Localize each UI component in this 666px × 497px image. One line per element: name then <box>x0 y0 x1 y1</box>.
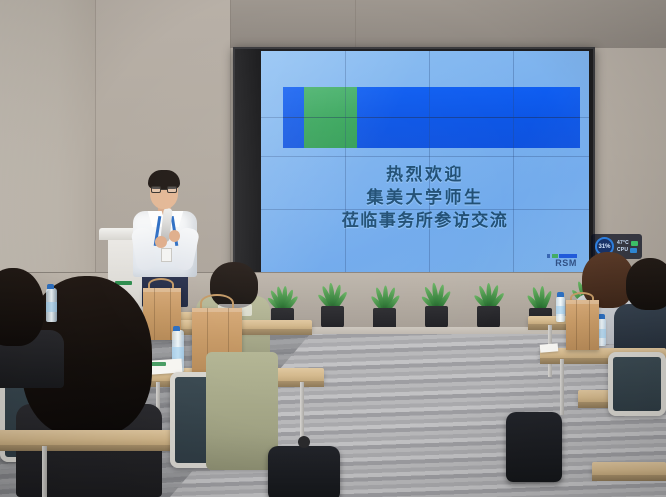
screen-panel-seam <box>513 51 514 274</box>
slide-line-2: 集美大学师生 <box>261 186 589 209</box>
potted-plant-icon <box>312 272 352 328</box>
slide-line-3: 莅临事务所参访交流 <box>261 209 589 232</box>
slide-line-1: 热烈欢迎 <box>261 163 589 186</box>
seminar-room-photo: 热烈欢迎 集美大学师生 莅临事务所参访交流 RSM 31% <box>0 0 666 497</box>
backpack-icon <box>268 446 340 497</box>
rsm-logo: RSM <box>547 254 577 268</box>
water-bottle-icon <box>556 296 565 322</box>
video-wall-bezel <box>235 49 261 276</box>
screen-panel-seam <box>345 51 346 274</box>
video-wall[interactable]: 热烈欢迎 集美大学师生 莅临事务所参访交流 RSM <box>233 47 595 278</box>
glasses-icon <box>151 186 177 193</box>
attendee-hair <box>0 268 44 346</box>
backpack-icon <box>506 412 562 482</box>
screen-panel-seam <box>429 51 430 274</box>
status-chip-icon <box>631 241 638 246</box>
gift-bag-icon <box>566 300 599 350</box>
water-bottle-icon <box>46 288 57 322</box>
presenter-id-badge <box>161 248 172 262</box>
chair-caster <box>298 436 310 448</box>
temperature-row: 47°C <box>617 240 638 246</box>
table-row <box>0 430 190 446</box>
presenter-hand <box>155 236 167 248</box>
table-leg <box>42 446 47 497</box>
screen-panel-seam <box>261 117 589 118</box>
table-leg <box>560 359 564 415</box>
attendee-far-left <box>0 268 52 388</box>
potted-plant-icon <box>468 272 508 328</box>
potted-plant-icon <box>364 274 404 330</box>
screen-panel-seam <box>261 156 589 157</box>
screen-panel-seam <box>261 209 589 210</box>
upper-wall-band <box>230 0 666 48</box>
handout-paper <box>540 343 559 353</box>
potted-plant-icon <box>416 272 456 328</box>
presenter-hand <box>169 230 180 242</box>
attendee-center-lower <box>206 352 278 470</box>
table-row <box>592 462 666 476</box>
temperature-value: 47°C <box>617 240 629 246</box>
presentation-screen[interactable]: 热烈欢迎 集美大学师生 莅临事务所参访交流 RSM <box>261 51 589 274</box>
attendee-hair <box>626 258 666 310</box>
chair <box>608 352 666 416</box>
slide-welcome-text: 热烈欢迎 集美大学师生 莅临事务所参访交流 <box>261 163 589 232</box>
attendee-right-rear-2 <box>626 258 666 358</box>
rsm-logo-text: RSM <box>547 259 577 268</box>
